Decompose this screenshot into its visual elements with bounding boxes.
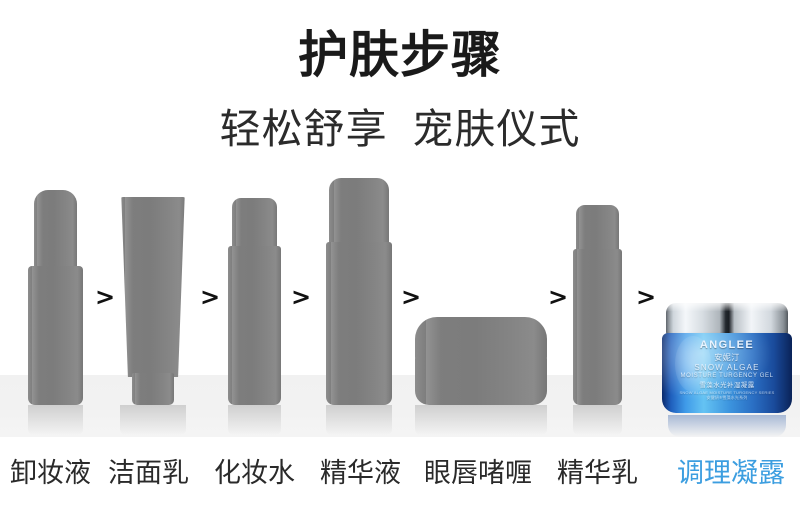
arrow-separator-5: > (548, 285, 568, 309)
cap-highlight-1 (37, 190, 42, 270)
page-subtitle: 轻松舒享 宠肤仪式 (0, 104, 800, 154)
lid-highlight-5 (426, 317, 442, 359)
body-highlight-5 (426, 357, 442, 405)
skincare-steps-infographic: 护肤步骤 轻松舒享 宠肤仪式 (0, 0, 800, 530)
product-silhouette-1 (28, 190, 83, 405)
product-silhouette-5 (415, 317, 547, 405)
body-highlight-3 (232, 246, 238, 405)
jar-lid-highlight (666, 303, 788, 311)
product-silhouette-6 (573, 205, 622, 405)
jar-lid-5 (415, 317, 547, 359)
reflection-1 (28, 405, 83, 435)
jar-brand: ANGLEE (662, 339, 792, 353)
bottle-cap-4 (329, 178, 389, 246)
step-label-7: 调理凝露 (677, 455, 785, 491)
product-silhouette-2 (120, 197, 186, 405)
cap-highlight-2 (135, 373, 140, 405)
reflection-2 (120, 405, 186, 435)
bottle-cap-6 (576, 205, 619, 253)
reflection-3 (228, 405, 281, 435)
arrow-separator-2: > (200, 285, 220, 309)
reflection-6 (573, 405, 622, 435)
arrow-separator-4: > (401, 285, 421, 309)
jar-reflection (668, 415, 786, 437)
body-highlight-2 (125, 197, 133, 377)
jar-footnote: 安健妍®雪藻水光系列 (662, 395, 792, 400)
cap-highlight-4 (334, 178, 341, 246)
step-label-3: 化妆水 (214, 455, 295, 491)
step-label-5: 眼唇啫喱 (424, 455, 532, 491)
page-title: 护肤步骤 (0, 26, 800, 84)
product-silhouette-3 (228, 198, 281, 405)
product-photo-jar: ANGLEE 安妮汀 SNOW ALGAE MOISTURE TURGENCY … (662, 303, 792, 421)
cap-highlight-3 (236, 198, 241, 250)
step-label-1: 卸妆液 (10, 455, 91, 491)
bottle-cap-1 (34, 190, 77, 270)
arrow-separator-3: > (291, 285, 311, 309)
step-label-6: 精华乳 (557, 455, 638, 491)
tube-cap-2 (132, 373, 174, 405)
body-highlight-6 (577, 249, 583, 405)
bottle-body-1 (28, 266, 83, 405)
reflection-4 (326, 405, 392, 435)
jar-body-5 (415, 357, 547, 405)
bottle-body-3 (228, 246, 281, 405)
jar-brand-cn: 安妮汀 (662, 353, 792, 363)
body-highlight-4 (331, 242, 339, 405)
bottle-cap-3 (232, 198, 277, 250)
bottle-body-4 (326, 242, 392, 405)
jar-body-blue-gel: ANGLEE 安妮汀 SNOW ALGAE MOISTURE TURGENCY … (662, 333, 792, 413)
tube-body-2 (120, 197, 186, 377)
arrow-separator-1: > (95, 285, 115, 309)
step-label-4: 精华液 (320, 455, 401, 491)
step-label-2: 洁面乳 (108, 455, 189, 491)
bottle-body-6 (573, 249, 622, 405)
jar-subtitle-en: MOISTURE TURGENCY GEL (662, 373, 792, 381)
cap-highlight-6 (579, 205, 584, 253)
jar-name-cn: 雪藻水光补湿凝露 (662, 382, 792, 390)
product-silhouette-4 (326, 178, 392, 405)
body-highlight-1 (32, 266, 39, 405)
jar-label-text: ANGLEE 安妮汀 SNOW ALGAE MOISTURE TURGENCY … (662, 339, 792, 400)
reflection-5 (415, 405, 547, 435)
step-labels: 卸妆液 洁面乳 化妆水 精华液 眼唇啫喱 精华乳 调理凝露 (0, 455, 800, 500)
jar-line-name: SNOW ALGAE (662, 363, 792, 373)
arrow-separator-6: > (636, 285, 656, 309)
